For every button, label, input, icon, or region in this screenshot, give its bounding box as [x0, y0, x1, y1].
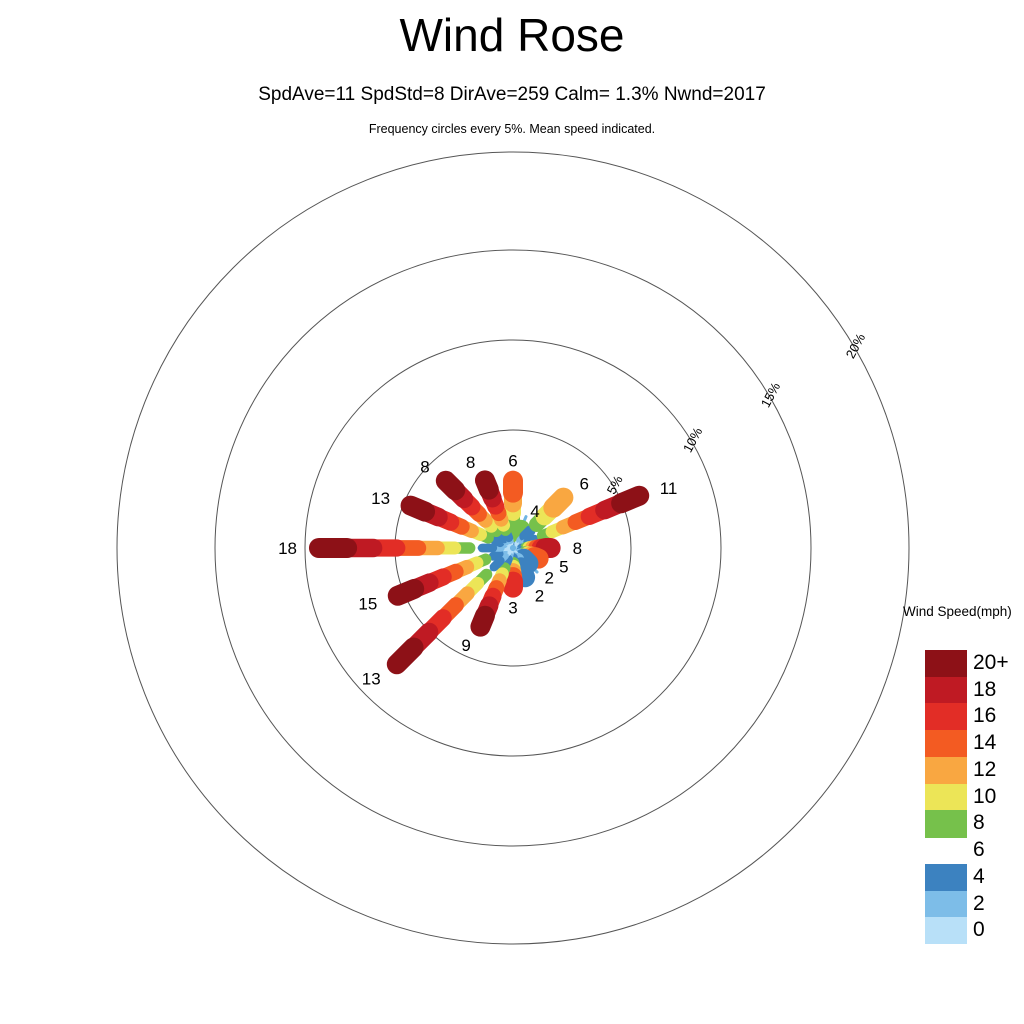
- petal-segment: [553, 498, 563, 508]
- legend-title: Wind Speed(mph): [903, 604, 1012, 619]
- legend-swatch: [925, 891, 967, 918]
- legend-swatch: [925, 837, 967, 864]
- legend-swatch: [925, 650, 967, 677]
- petal-segment: [480, 616, 485, 627]
- legend-label: 12: [973, 759, 1024, 780]
- ring-labels: 5%10%15%20%: [604, 330, 869, 496]
- petal-segment: [507, 559, 509, 563]
- wind-rose-plot: 5%10%15%20% 646118522391315181388: [0, 0, 1024, 1024]
- legend-label: 8: [973, 812, 1024, 833]
- petal-segment: [525, 531, 530, 536]
- petal-segment: [485, 480, 489, 489]
- petal-mean-speed-label: 8: [573, 539, 582, 558]
- legend-swatch: [925, 810, 967, 837]
- legend-swatch: [925, 784, 967, 811]
- petal-mean-speed-label: 18: [278, 539, 297, 558]
- legend-swatch: [925, 917, 967, 944]
- legend-swatch: [925, 677, 967, 704]
- petal-segment: [446, 481, 455, 490]
- petal-mean-speed-label: 9: [461, 636, 470, 655]
- petal-segment: [397, 647, 414, 664]
- legend-label: 0: [973, 919, 1024, 940]
- legend-swatch: [925, 757, 967, 784]
- legend-swatch: [925, 864, 967, 891]
- petal-mean-speed-label: 6: [580, 475, 589, 494]
- legend-swatch: [925, 730, 967, 757]
- legend-label: 18: [973, 679, 1024, 700]
- legend-label: 20+: [973, 652, 1024, 673]
- legend-label: 10: [973, 786, 1024, 807]
- legend-label: 4: [973, 866, 1024, 887]
- petal-segment: [621, 496, 639, 503]
- petal-segment: [519, 530, 521, 534]
- petal-mean-speed-label: 3: [508, 599, 517, 618]
- legend-label: 6: [973, 839, 1024, 860]
- petal-segment: [495, 540, 500, 542]
- petal-mean-speed-label: 15: [358, 594, 377, 613]
- legend-label: 14: [973, 732, 1024, 753]
- petal-mean-speed-label: 8: [466, 453, 475, 472]
- petal-mean-speed-label: 8: [420, 458, 429, 477]
- petal-mean-speed-label: 11: [660, 479, 678, 498]
- petal-segment: [398, 589, 414, 596]
- petal-mean-speed-label: 5: [559, 557, 568, 576]
- petal-mean-speed-label: 2: [545, 569, 554, 588]
- petal-segment: [494, 561, 500, 567]
- petal-segment: [493, 554, 499, 557]
- legend-label: 2: [973, 893, 1024, 914]
- petal-mean-speed-label: 2: [535, 587, 544, 606]
- legend-swatch: [925, 703, 967, 730]
- petal-segment: [411, 506, 426, 512]
- petal-mean-speed-label: 13: [371, 489, 390, 508]
- petal-mean-speed-label: 13: [362, 669, 381, 688]
- legend-label: 16: [973, 705, 1024, 726]
- petal-mean-speed-label: 4: [530, 502, 539, 521]
- wind-speed-legend: 20+181614121086420: [925, 650, 1024, 944]
- wind-rose-figure: Wind Rose SpdAve=11 SpdStd=8 DirAve=259 …: [0, 0, 1024, 1024]
- petal-mean-speed-label: 6: [508, 452, 517, 471]
